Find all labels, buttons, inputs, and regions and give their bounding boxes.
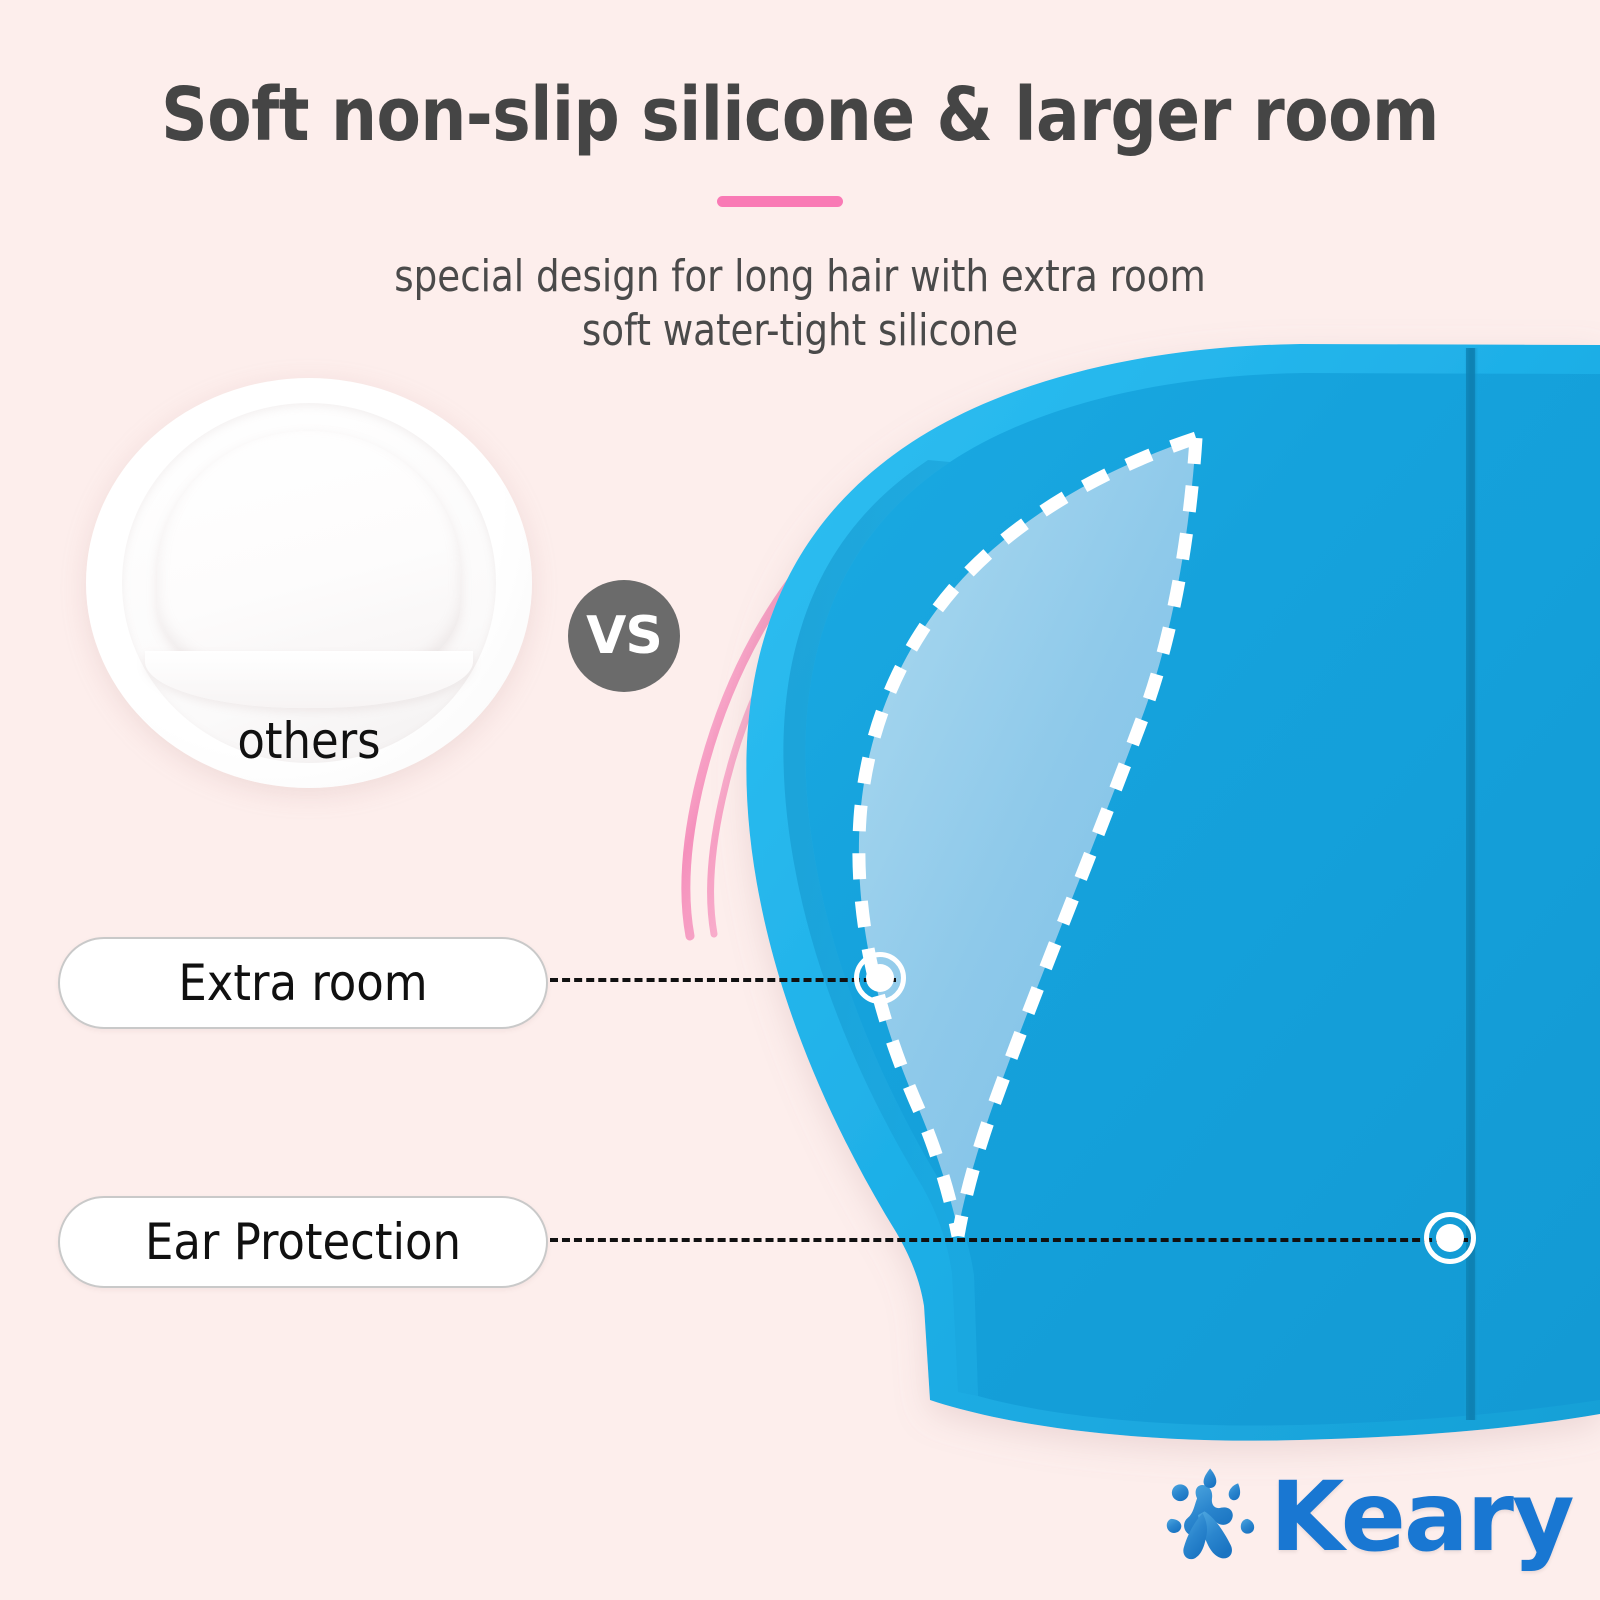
water-splash-x-icon bbox=[1156, 1461, 1268, 1573]
subtitle-line-1: special design for long hair with extra … bbox=[48, 250, 1552, 304]
title-divider bbox=[717, 196, 843, 207]
blue-swim-cap-illustration bbox=[0, 0, 1600, 1600]
page-title: Soft non-slip silicone & larger room bbox=[24, 72, 1576, 158]
callout-label-extra-room[interactable]: Extra room bbox=[58, 937, 548, 1029]
target-dot-icon-extra-room bbox=[854, 952, 906, 1004]
others-label: others bbox=[0, 712, 618, 770]
infographic-canvas: Soft non-slip silicone & larger room spe… bbox=[0, 0, 1600, 1600]
page-subtitle: special design for long hair with extra … bbox=[48, 250, 1552, 358]
brand-name: Keary bbox=[1270, 1461, 1573, 1573]
callout-label-ear-protection[interactable]: Ear Protection bbox=[58, 1196, 548, 1288]
vs-badge: VS bbox=[568, 580, 680, 692]
callout-connector-ear-protection bbox=[550, 1238, 1468, 1242]
brand-logo: Keary bbox=[1156, 1452, 1573, 1582]
target-dot-icon-ear-protection bbox=[1424, 1212, 1476, 1264]
subtitle-line-2: soft water-tight silicone bbox=[48, 304, 1552, 358]
callout-connector-extra-room bbox=[550, 978, 896, 982]
